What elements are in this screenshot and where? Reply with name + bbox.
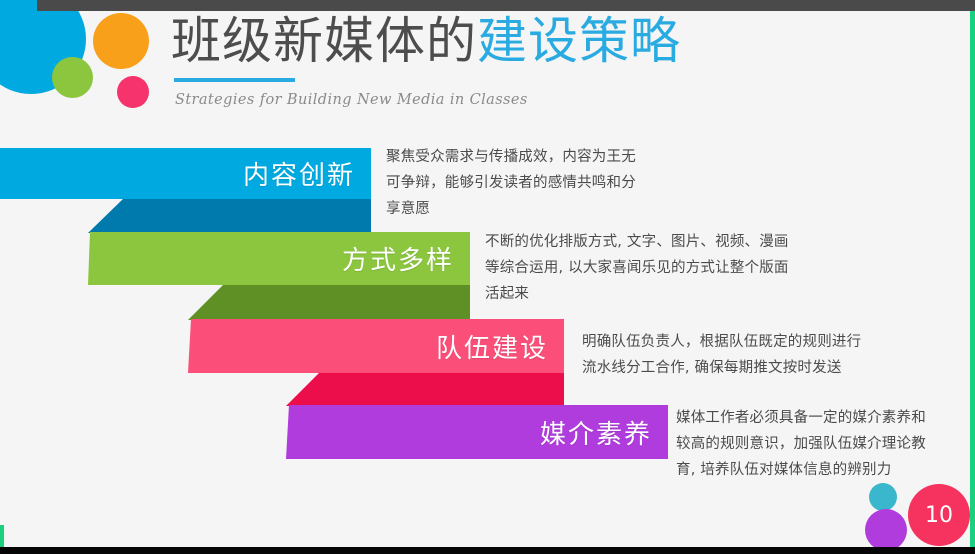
pink-circle — [117, 76, 149, 108]
title-underline — [174, 78, 295, 82]
banner-team-building[interactable]: 队伍建设 — [188, 319, 564, 373]
banner-description-1: 聚焦受众需求与传播成效，内容为王无 可争辩，能够引发读者的感情共鸣和分 享意愿 — [386, 144, 686, 222]
banner-fold-1 — [88, 198, 371, 233]
banner-label: 内容创新 — [243, 155, 355, 192]
banner-fold-3 — [286, 372, 564, 406]
page-title-primary: 班级新媒体的 — [171, 12, 477, 70]
slide-canvas: 班级新媒体的建设策略 Strategies for Building New M… — [0, 0, 975, 554]
bottom-chrome-bar — [0, 547, 975, 554]
orange-circle — [93, 13, 149, 69]
banner-bar: 方式多样 — [88, 232, 470, 285]
green-circle — [52, 57, 93, 98]
banner-bar: 媒介素养 — [286, 405, 668, 459]
banner-media-literacy[interactable]: 媒介素养 — [286, 405, 668, 459]
banner-diverse-formats[interactable]: 方式多样 — [88, 232, 470, 285]
banner-description-3: 明确队伍负责人，根据队伍既定的规则进行 流水线分工合作, 确保每期推文按时发送 — [582, 329, 922, 381]
banner-fold-2 — [188, 284, 470, 320]
banner-content-innovation[interactable]: 内容创新 — [0, 148, 371, 199]
banner-description-4: 媒体工作者必须具备一定的媒介素养和 较高的规则意识，加强队伍媒介理论教 育, 培… — [676, 405, 966, 483]
teal-circle — [869, 483, 897, 511]
banner-bar: 内容创新 — [0, 148, 371, 199]
page-title: 班级新媒体的建设策略 — [171, 11, 681, 71]
page-title-accent: 建设策略 — [477, 12, 681, 70]
left-edge-accent — [0, 525, 4, 547]
purple-circle — [865, 509, 907, 551]
banner-bar: 队伍建设 — [188, 319, 564, 373]
right-edge-accent — [970, 9, 975, 554]
slide-header: 班级新媒体的建设策略 Strategies for Building New M… — [171, 11, 681, 108]
page-subtitle: Strategies for Building New Media in Cla… — [175, 92, 681, 108]
banner-label: 媒介素养 — [540, 414, 652, 451]
page-number-badge: 10 — [908, 484, 970, 546]
banner-label: 方式多样 — [342, 240, 454, 277]
banner-label: 队伍建设 — [436, 328, 548, 365]
top-chrome-bar — [37, 0, 975, 11]
banner-description-2: 不断的优化排版方式, 文字、图片、视频、漫画 等综合运用, 以大家喜闻乐见的方式… — [485, 229, 830, 307]
